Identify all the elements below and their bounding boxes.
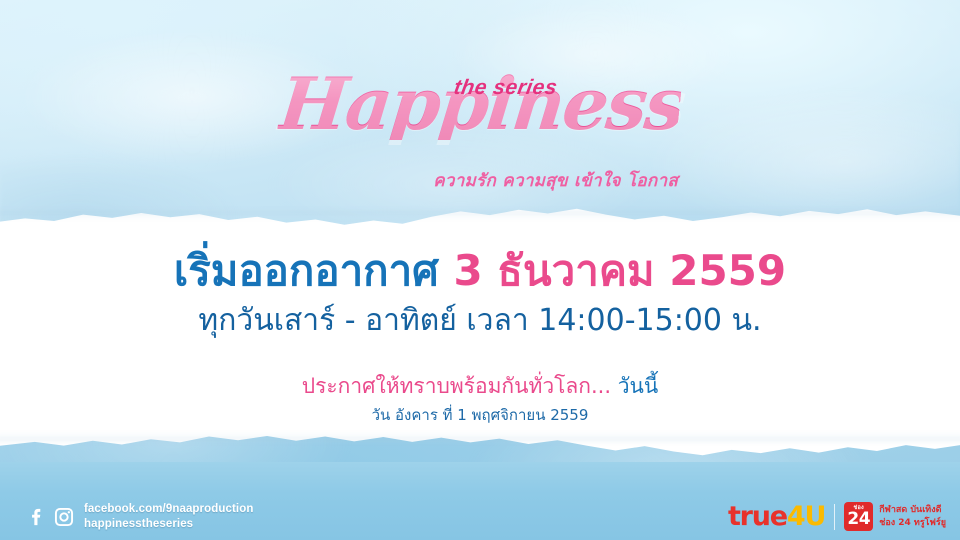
schedule-line: ทุกวันเสาร์ - อาทิตย์ เวลา 14:00-15:00 น… xyxy=(0,302,960,340)
channel-tagline-line1: กีฬาสด บันเทิงดี xyxy=(879,504,946,516)
announce-date: วัน อังคาร ที่ 1 พฤศจิกายน 2559 xyxy=(0,406,960,426)
promo-poster: Happiness the series ความรัก ความสุข เข้… xyxy=(0,0,960,540)
show-tagline-thai: ความรัก ความสุข เข้าใจ โอกาส xyxy=(433,167,678,194)
facebook-icon[interactable] xyxy=(26,506,48,528)
broadcaster-group: true4U ช่อง 24 กีฬาสด บันเทิงดี ช่อง 24 … xyxy=(728,502,946,531)
headline-date: 3 ธันวาคม 2559 xyxy=(453,246,786,295)
instagram-icon[interactable] xyxy=(53,506,75,528)
true4u-logo-true: true xyxy=(728,501,787,532)
true4u-logo-4u: 4U xyxy=(787,501,825,532)
show-subtitle-the-series: the series xyxy=(452,76,559,100)
channel-24-badge: ช่อง 24 xyxy=(844,502,873,531)
social-icon-group xyxy=(26,506,75,528)
instagram-handle: happinesstheseries xyxy=(84,517,253,532)
social-handles: facebook.com/9naaproduction happinessthe… xyxy=(84,502,253,532)
channel-number: 24 xyxy=(847,511,870,528)
announce-text: ประกาศให้ทราบพร้อมกันทั่วโลก... xyxy=(302,374,611,398)
facebook-handle: facebook.com/9naaproduction xyxy=(84,502,253,517)
logo-divider xyxy=(834,504,835,530)
channel-24-group: ช่อง 24 กีฬาสด บันเทิงดี ช่อง 24 ทรูโฟร์… xyxy=(844,502,946,531)
announcement-block: เริ่มออกอากาศ 3 ธันวาคม 2559 ทุกวันเสาร์… xyxy=(0,246,960,426)
true4u-logo: true4U xyxy=(728,503,825,530)
announce-today: วันนี้ xyxy=(618,374,659,398)
headline-prefix: เริ่มออกอากาศ xyxy=(174,246,439,295)
channel-tagline-line2: ช่อง 24 ทรูโฟร์ยู xyxy=(879,517,946,529)
channel-tagline: กีฬาสด บันเทิงดี ช่อง 24 ทรูโฟร์ยู xyxy=(879,504,946,528)
social-footer: facebook.com/9naaproduction happinessthe… xyxy=(26,502,253,532)
show-logo: Happiness the series ความรัก ความสุข เข้… xyxy=(0,58,960,188)
announce-line: ประกาศให้ทราบพร้อมกันทั่วโลก... วันนี้ xyxy=(0,373,960,400)
headline: เริ่มออกอากาศ 3 ธันวาคม 2559 xyxy=(0,246,960,296)
